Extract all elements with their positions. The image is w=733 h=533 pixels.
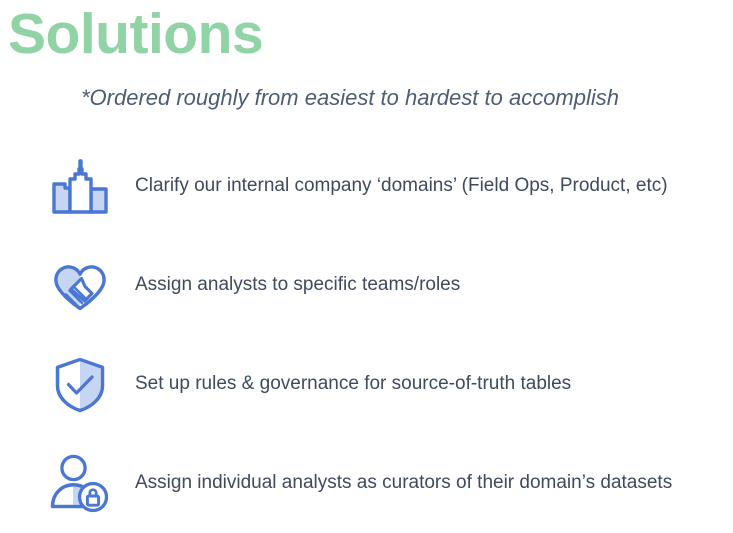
page-title: Solutions bbox=[8, 2, 263, 68]
list-item-label: Assign analysts to specific teams/roles bbox=[135, 273, 733, 298]
user-lock-icon bbox=[42, 448, 118, 520]
list-item-label: Set up rules & governance for source-of-… bbox=[135, 372, 733, 397]
shield-check-icon bbox=[42, 349, 118, 421]
list-item: Set up rules & governance for source-of-… bbox=[0, 335, 733, 434]
list-item: Assign individual analysts as curators o… bbox=[0, 434, 733, 533]
list-item: Assign analysts to specific teams/roles bbox=[0, 236, 733, 335]
heart-handshake-icon bbox=[42, 250, 118, 322]
list-item-label: Assign individual analysts as curators o… bbox=[135, 471, 733, 496]
city-buildings-icon bbox=[42, 151, 118, 223]
list-item: Clarify our internal company ‘domains’ (… bbox=[0, 137, 733, 236]
solutions-list: Clarify our internal company ‘domains’ (… bbox=[0, 137, 733, 533]
solutions-slide: Solutions *Ordered roughly from easiest … bbox=[0, 0, 733, 516]
list-item-label: Clarify our internal company ‘domains’ (… bbox=[135, 174, 733, 199]
page-subtitle: *Ordered roughly from easiest to hardest… bbox=[0, 85, 700, 111]
